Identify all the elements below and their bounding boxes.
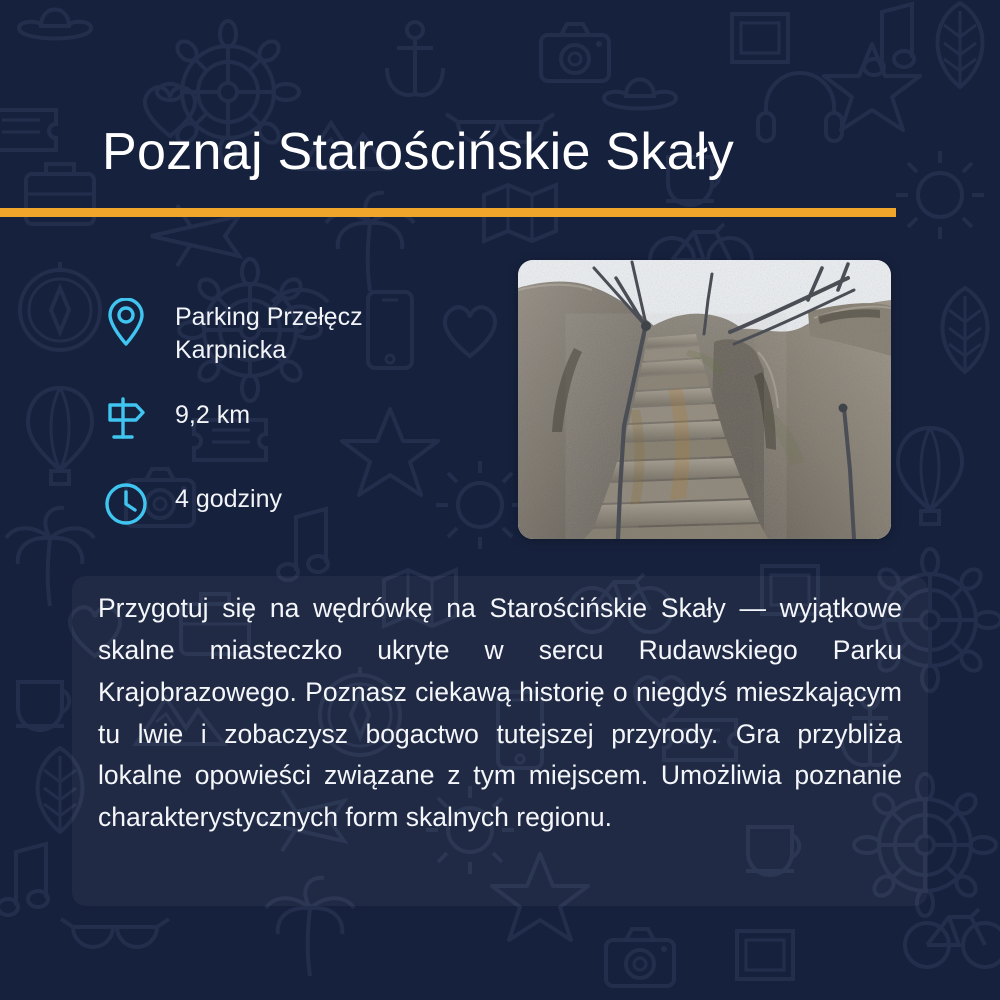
info-item-location-label: Parking Przełęcz Karpnicka [175,296,470,366]
location-pin-icon [100,296,152,348]
info-item-location: Parking Przełęcz Karpnicka [100,296,470,366]
signpost-icon [100,394,152,446]
travel-poster: Poznaj Starościńskie Skały Parking Przeł… [0,0,1000,1000]
clock-icon [100,478,152,530]
info-item-distance: 9,2 km [100,394,470,446]
description-text: Przygotuj się na wędrówkę na Starościńsk… [98,588,902,839]
trip-info-list: Parking Przełęcz Karpnicka 9,2 km 4 godz… [100,296,470,558]
info-item-duration-label: 4 godziny [175,478,282,516]
info-item-duration: 4 godziny [100,478,470,530]
title-divider [0,208,896,217]
rock-stairs-photo [518,260,891,539]
info-item-distance-label: 9,2 km [175,394,250,432]
page-title: Poznaj Starościńskie Skały [102,122,922,183]
